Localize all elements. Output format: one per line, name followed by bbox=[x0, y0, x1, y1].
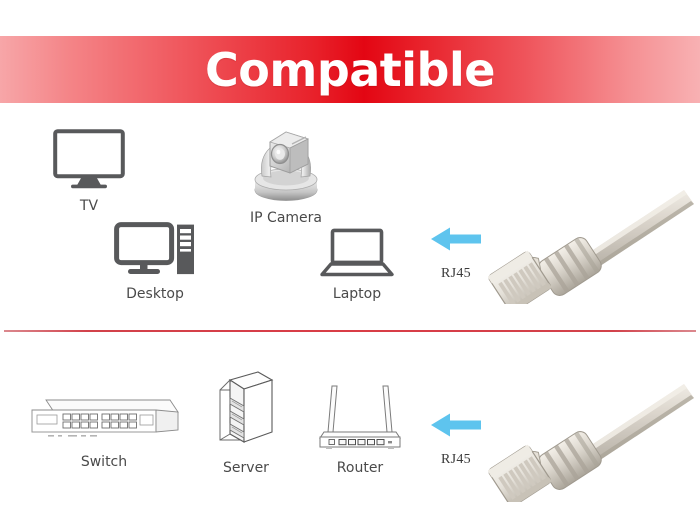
rj45-label-bottom: RJ45 bbox=[441, 452, 471, 468]
compatible-devices-infographic: Compatible TV bbox=[0, 0, 700, 525]
rj45-cable-icon bbox=[488, 372, 700, 507]
arrow-left-icon bbox=[430, 412, 482, 443]
section-divider bbox=[4, 330, 696, 332]
device-label-switch: Switch bbox=[81, 455, 127, 470]
network-switch-icon bbox=[28, 388, 180, 451]
tv-icon bbox=[52, 128, 126, 195]
page-title: Compatible bbox=[205, 47, 495, 93]
device-node-router: Router bbox=[312, 380, 408, 476]
device-label-desktop: Desktop bbox=[126, 287, 184, 302]
device-label-server: Server bbox=[223, 461, 269, 476]
ip-camera-icon bbox=[240, 120, 332, 207]
header-banner: Compatible bbox=[0, 36, 700, 103]
device-label-laptop: Laptop bbox=[333, 287, 381, 302]
device-label-ip-camera: IP Camera bbox=[250, 211, 322, 226]
device-node-tv: TV bbox=[52, 128, 126, 214]
rj45-callout-bottom: RJ45 bbox=[430, 412, 482, 468]
device-node-laptop: Laptop bbox=[320, 228, 394, 302]
device-node-desktop: Desktop bbox=[114, 222, 196, 302]
device-label-router: Router bbox=[337, 461, 383, 476]
device-node-ip-camera: IP Camera bbox=[240, 120, 332, 226]
device-node-switch: Switch bbox=[28, 388, 180, 470]
rj45-label-top: RJ45 bbox=[441, 266, 471, 282]
device-node-server: Server bbox=[214, 368, 278, 476]
server-rack-icon bbox=[214, 368, 278, 457]
rj45-cable-icon bbox=[488, 182, 700, 309]
device-label-tv: TV bbox=[80, 199, 98, 214]
rj45-callout-top: RJ45 bbox=[430, 226, 482, 282]
laptop-icon bbox=[320, 228, 394, 283]
wifi-router-icon bbox=[312, 380, 408, 457]
arrow-left-icon bbox=[430, 226, 482, 257]
desktop-computer-icon bbox=[114, 222, 196, 283]
